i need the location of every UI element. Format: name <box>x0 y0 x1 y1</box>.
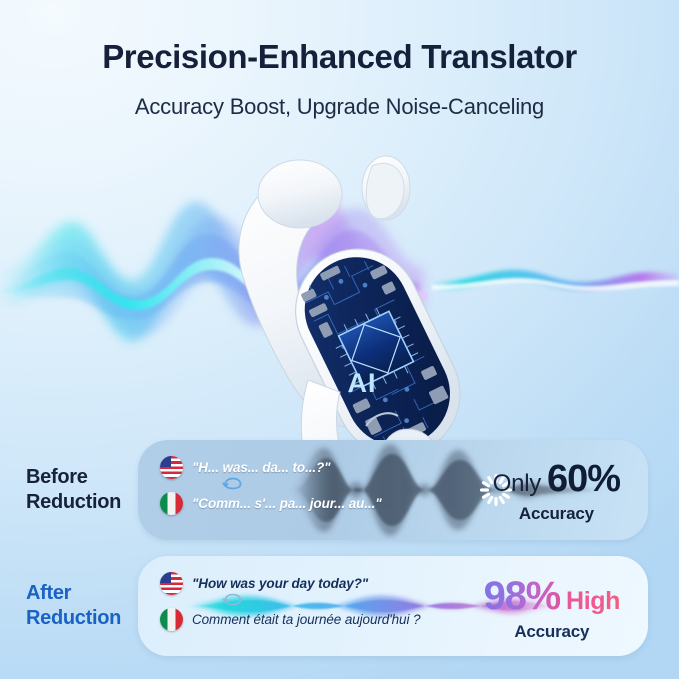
page-title-part1: Precision-Enhanced <box>102 38 412 75</box>
hero-graphic: AI <box>0 130 679 440</box>
after-card: "How was your day today?" Comment était … <box>138 556 648 656</box>
before-stat-value: 60% <box>547 458 620 500</box>
after-stat-caption: Accuracy <box>484 622 620 642</box>
us-flag-icon <box>160 572 183 595</box>
translate-loop-icon <box>222 592 244 606</box>
clean-output-soundwave <box>432 270 679 291</box>
row-label-after: After Reduction <box>26 581 121 631</box>
row-label-before-line1: Before <box>26 466 88 488</box>
before-stat-caption: Accuracy <box>493 504 620 524</box>
before-stat-prefix: Only <box>493 470 541 497</box>
after-target-line: Comment était ta journée aujourd'hui ? <box>160 608 420 631</box>
before-source-text: "H... was... da... to...?" <box>192 460 330 475</box>
ai-chip-label: AI <box>348 368 377 398</box>
before-transcript: "H... was... da... to...?" "Comm... s'..… <box>160 440 420 540</box>
row-label-before: Before Reduction <box>26 465 121 515</box>
promo-image-root: Precision-EnhancedTranslator Accuracy Bo… <box>0 0 679 679</box>
page-title-part2: Translator <box>421 38 577 75</box>
product-earbud: AI <box>239 156 481 440</box>
row-label-after-line1: After <box>26 582 71 604</box>
after-stat: 98%High Accuracy <box>484 576 620 642</box>
row-label-after-line2: Reduction <box>26 607 121 629</box>
row-label-before-line2: Reduction <box>26 491 121 513</box>
after-transcript: "How was your day today?" Comment était … <box>160 556 420 656</box>
it-flag-icon <box>160 608 183 631</box>
before-source-line: "H... was... da... to...?" <box>160 456 330 479</box>
page-title: Precision-EnhancedTranslator <box>0 38 679 76</box>
before-target-text: "Comm... s'... pa... jour... au..." <box>192 496 382 511</box>
before-card: "H... was... da... to...?" "Comm... s'..… <box>138 440 648 540</box>
before-stat: Only60% Accuracy <box>493 460 620 524</box>
us-flag-icon <box>160 456 183 479</box>
comparison-row-after: After Reduction <box>0 556 679 656</box>
after-stat-value: 98% <box>484 574 560 618</box>
after-source-text: "How was your day today?" <box>192 576 368 591</box>
after-stat-suffix: High <box>566 587 620 615</box>
page-subtitle: Accuracy Boost, Upgrade Noise-Canceling <box>0 94 679 120</box>
hero-section: AI <box>0 130 679 440</box>
translate-loop-icon <box>222 476 244 490</box>
after-source-line: "How was your day today?" <box>160 572 368 595</box>
before-target-line: "Comm... s'... pa... jour... au..." <box>160 492 382 515</box>
it-flag-icon <box>160 492 183 515</box>
comparison-row-before: Before Reduction <box>0 440 679 540</box>
after-target-text: Comment était ta journée aujourd'hui ? <box>192 612 420 627</box>
